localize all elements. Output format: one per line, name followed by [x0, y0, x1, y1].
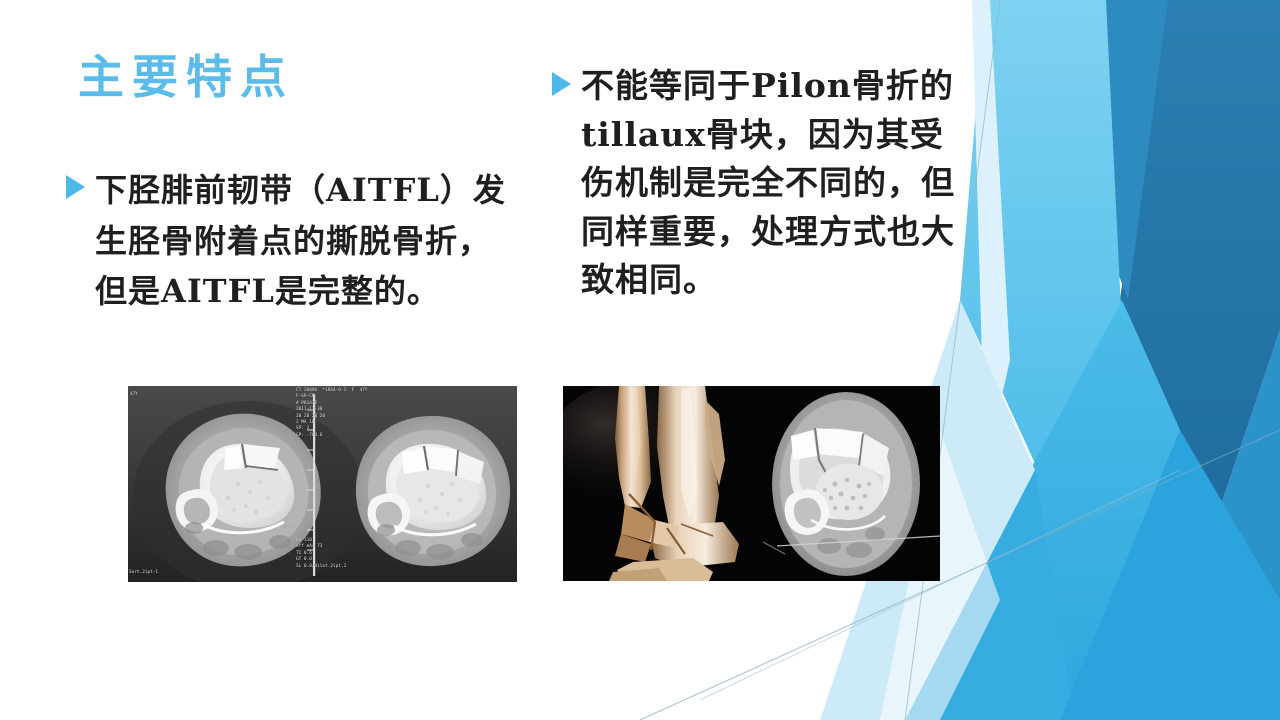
- ct-overlay-bottom: kV 110 eff mAs 73 TI 0.6 GT 0.0 SL 0.0/H…: [296, 538, 346, 570]
- decor-shape-pale-sliver: [972, 0, 1010, 470]
- bullet-item-right: 不能等同于Pilon骨折的tillaux骨块，因为其受伤机制是完全不同的，但同样…: [552, 62, 972, 305]
- decor-shape-steel-top: [1080, 0, 1168, 300]
- ct-overlay-footer: Sort.2ipt-1: [129, 570, 158, 576]
- triangle-right-icon: [66, 175, 85, 199]
- decor-shape-sky-mid: [1030, 300, 1180, 720]
- ct-overlay-scalebar: 5cm: [283, 524, 291, 530]
- slide-title: 主要特点: [78, 52, 294, 104]
- slide-canvas: 主要特点 下胫腓前韧带（AITFL）发生胫骨附着点的撕脱骨折，但是AITFL是完…: [0, 0, 1280, 720]
- triangle-right-icon: [552, 72, 571, 96]
- bullet-text-right: 不能等同于Pilon骨折的tillaux骨块，因为其受伤机制是完全不同的，但同样…: [581, 62, 972, 305]
- ct-overlay-top: CT 20096 *1864-0-1 F 47Y F-SP-CR # P0143…: [296, 388, 367, 439]
- ct-overlay-corner: 47Y: [130, 392, 138, 398]
- decor-shape-light-band: [960, 0, 1122, 470]
- decor-shape-sky-bottom: [1060, 430, 1280, 720]
- decor-shape-deep-top: [1120, 0, 1280, 520]
- bullet-item-left: 下胫腓前韧带（AITFL）发生胫骨附着点的撕脱骨折，但是AITFL是完整的。: [66, 165, 518, 317]
- ct-slice-right: [356, 416, 510, 566]
- decor-shape-deep-lower: [1172, 330, 1280, 720]
- bullet-text-left: 下胫腓前韧带（AITFL）发生胫骨附着点的撕脱骨折，但是AITFL是完整的。: [95, 165, 518, 317]
- ct-3d-and-axial-image: [563, 386, 940, 581]
- ct-axial-pair-image: 47Y CT 20096 *1864-0-1 F 47Y F-SP-CR # P…: [128, 386, 517, 582]
